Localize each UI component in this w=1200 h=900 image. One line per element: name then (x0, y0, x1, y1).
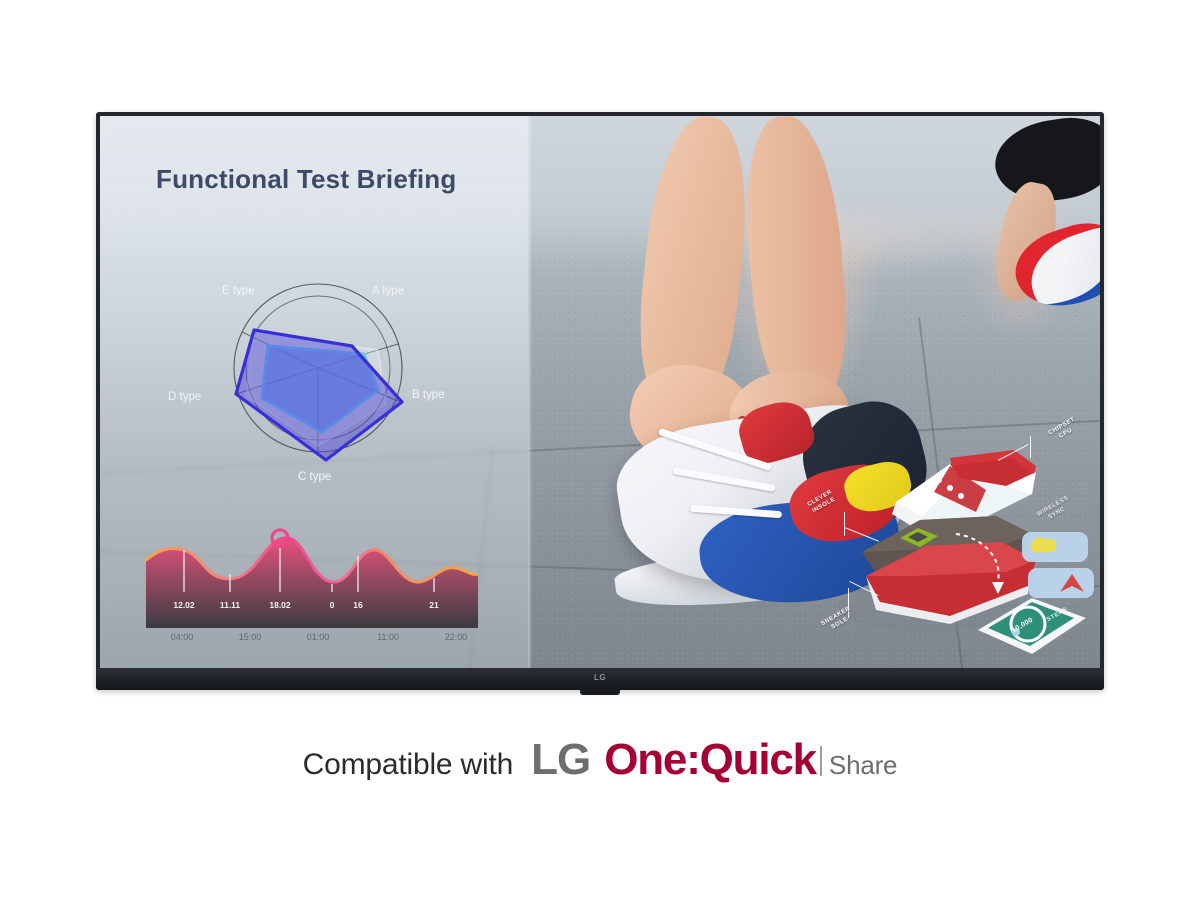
radar-label-d: D type (168, 391, 201, 403)
radar-label-e: E type (222, 285, 255, 297)
display-screen: CHIPSET CPU CLEVER INSOLE SNEAKER SOLE W… (100, 116, 1100, 668)
value-label-2: 18.02 (269, 600, 290, 610)
infographic-illustration (800, 416, 1100, 666)
lg-display-device: CHIPSET CPU CLEVER INSOLE SNEAKER SOLE W… (96, 112, 1104, 690)
leader-line-insole-stem (844, 512, 845, 536)
leader-line-chipset-stem (1030, 436, 1031, 458)
brand-divider (820, 746, 822, 776)
time-label-2: 01:00 (307, 632, 330, 642)
share-edition-label: Share (829, 750, 897, 781)
onequick-wordmark: One:Quick (604, 735, 816, 785)
radar-label-c: C type (298, 471, 331, 483)
time-label-1: 15:00 (239, 632, 262, 642)
value-label-4: 16 (353, 600, 362, 610)
slide-title: Functional Test Briefing (156, 164, 456, 195)
value-label-0: 12.02 (173, 600, 194, 610)
value-label-1: 11.11 (220, 600, 240, 610)
area-chart-svg (146, 528, 478, 628)
sneaker-infographic: CHIPSET CPU CLEVER INSOLE SNEAKER SOLE W… (800, 416, 1100, 666)
slide-overlay-edge (528, 116, 532, 668)
display-stand-nub (580, 689, 620, 695)
radar-label-b: B type (412, 389, 445, 401)
radar-label-a: A type (372, 285, 404, 297)
value-label-3: 0 (330, 600, 335, 610)
value-label-5: 21 (429, 600, 438, 610)
radar-chart: A type B type C type D type E type (150, 246, 500, 496)
area-line-chart: 12.02 11.11 18.02 0 16 21 04:00 15:00 01… (146, 528, 478, 652)
lg-wordmark: LG (531, 735, 590, 785)
area-fill (146, 538, 478, 628)
compatibility-caption: Compatible with LG One:Quick Share (0, 735, 1200, 785)
display-bottom-bezel: LG (96, 668, 1104, 690)
time-label-3: 11:00 (377, 632, 399, 642)
time-label-0: 04:00 (171, 632, 194, 642)
lg-bezel-logo: LG (594, 673, 606, 682)
time-label-4: 22:00 (445, 632, 468, 642)
caption-prefix: Compatible with (303, 748, 513, 782)
